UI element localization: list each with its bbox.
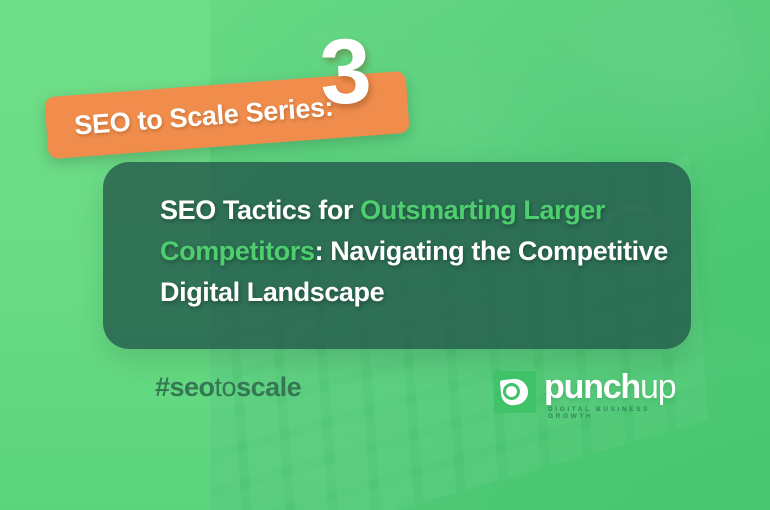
logo-brand-secondary: up (640, 368, 675, 406)
hashtag-seo: #seo (155, 372, 215, 402)
punchup-logo: punchup DIGITAL BUSINESS GROWTH (494, 368, 674, 426)
title-card: SEO Tactics for Outsmarting Larger Compe… (103, 162, 691, 349)
page-title: SEO Tactics for Outsmarting Larger Compe… (160, 190, 670, 313)
punch-fist-icon (494, 371, 536, 413)
series-number: 3 (318, 25, 372, 119)
seo-blog-banner: SEO to Scale Series: 3 SEO Tactics for O… (0, 0, 770, 510)
logo-wordmark: punchup (544, 368, 675, 407)
hashtag-scale: scale (236, 372, 301, 402)
hashtag-to: to (215, 372, 237, 402)
title-part-1: SEO Tactics for (160, 195, 360, 225)
logo-brand-primary: punch (544, 368, 640, 406)
fist-thumb (503, 383, 520, 400)
logo-tagline: DIGITAL BUSINESS GROWTH (548, 406, 674, 420)
hashtag: #seotoscale (155, 372, 301, 403)
